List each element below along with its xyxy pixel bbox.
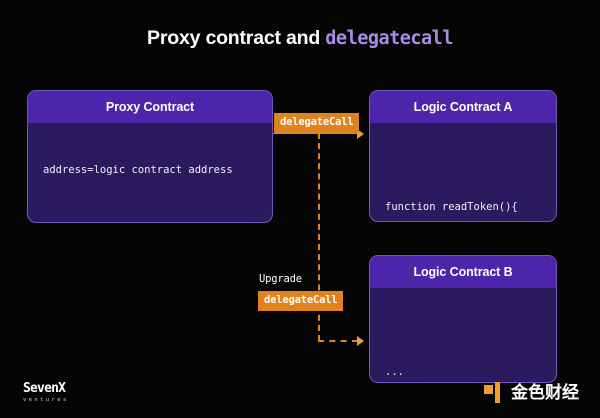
logic-contract-a-code: function readToken(){ int amount=readTok… — [370, 123, 556, 222]
logic-contract-a-header: Logic Contract A — [370, 91, 556, 123]
page-title-plain: Proxy contract and — [147, 27, 325, 49]
logic-contract-b-card: Logic Contract B ... — [369, 255, 557, 383]
sevenx-logo-name: SevenX — [23, 382, 69, 396]
upgrade-label: Upgrade — [259, 273, 302, 285]
proxy-contract-header: Proxy Contract — [28, 91, 272, 123]
delegatecall-arrowhead-bottom — [357, 336, 364, 346]
delegatecall-badge-bottom: delegateCall — [258, 291, 343, 311]
jinse-logo-icon — [484, 382, 505, 403]
logic-contract-b-header: Logic Contract B — [370, 256, 556, 288]
page-title-accent: delegatecall — [325, 28, 453, 49]
code-blank-line — [385, 164, 541, 174]
jinse-logo-bar — [495, 382, 500, 403]
proxy-contract-code: address=logic contract address function … — [28, 123, 272, 223]
delegatecall-arrow-line-top — [273, 133, 359, 134]
slide-canvas: Proxy contract and delegatecall Proxy Co… — [0, 0, 600, 418]
code-blank-line — [43, 205, 257, 215]
code-blank-line — [385, 329, 541, 339]
page-title: Proxy contract and delegatecall — [0, 27, 600, 50]
proxy-contract-card: Proxy Contract address=logic contract ad… — [27, 90, 273, 223]
code-line: function readToken(){ — [385, 201, 541, 215]
code-line: address=logic contract address — [43, 164, 257, 178]
delegatecall-arrow-line-bottom — [318, 340, 358, 342]
logic-contract-b-code: ... — [370, 288, 556, 383]
jinse-watermark: 金色财经 — [484, 382, 579, 403]
logic-contract-a-card: Logic Contract A function readToken(){ i… — [369, 90, 557, 222]
jinse-watermark-text: 金色财经 — [511, 383, 579, 403]
sevenx-logo-subtitle: ventures — [23, 396, 69, 404]
sevenx-logo: SevenX ventures — [23, 382, 69, 404]
jinse-logo-square — [484, 385, 493, 394]
delegatecall-badge-top: delegateCall — [274, 113, 359, 133]
code-line: ... — [385, 366, 541, 380]
